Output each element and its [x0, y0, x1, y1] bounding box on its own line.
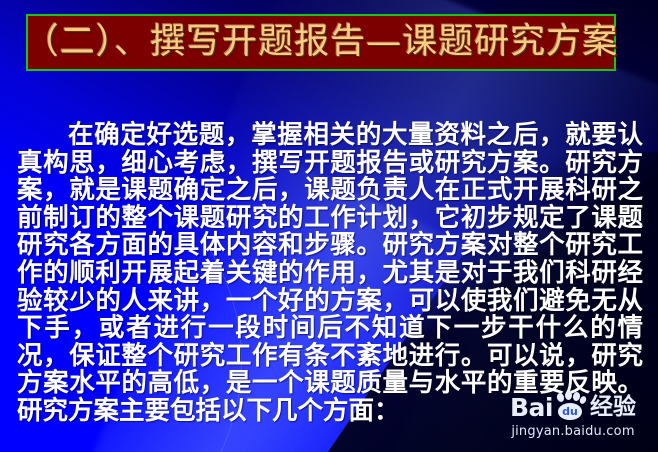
slide-title: （二）、撰写开题报告—课题研究方案	[24, 25, 619, 60]
watermark-url: jingyan.baidu.com	[498, 424, 648, 439]
slide-body: 在确定好选题，掌握相关的大量资料之后，就要认真构思，细心考虑，撰写开题报告或研究…	[17, 122, 643, 426]
presentation-slide: （二）、撰写开题报告—课题研究方案 在确定好选题，掌握相关的大量资料之后，就要认…	[0, 0, 658, 452]
slide-title-banner: （二）、撰写开题报告—课题研究方案	[26, 14, 616, 71]
body-paragraph: 在确定好选题，掌握相关的大量资料之后，就要认真构思，细心考虑，撰写开题报告或研究…	[17, 122, 643, 426]
